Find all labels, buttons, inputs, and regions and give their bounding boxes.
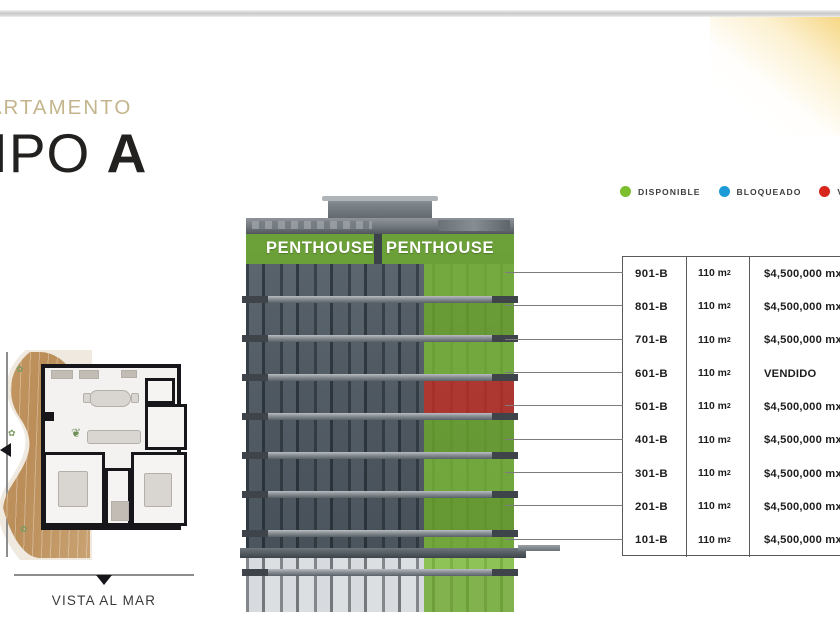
unit-price-table: 901-B 110 m2 $4,500,000 mxn 801-B 110 m2… [622,256,840,556]
plant-icon: ✿ [8,428,16,439]
cell-area-sup: 2 [727,270,731,277]
building-facade: PENTHOUSE PENTHOUSE [246,234,514,556]
cell-area-value: 110 m [698,468,727,479]
floor-slab [242,491,518,498]
apartment-outline: ❦ [41,364,181,530]
cell-unit: 801-B [623,301,686,313]
building-floor-801[interactable] [246,303,514,339]
penthouse-label-right: PENTHOUSE [386,239,494,258]
cell-area: 110 m2 [686,457,750,490]
availability-overlay-101 [424,576,514,612]
cell-area: 110 m2 [686,524,750,557]
leader-line-301 [505,472,623,473]
cell-unit: 501-B [623,401,686,413]
building-base-stub [518,545,560,551]
penthouse-divider [374,234,382,264]
legend-item-vendido[interactable]: VENDIDO [819,186,840,197]
dining-chair [83,393,91,403]
cell-unit: 601-B [623,368,686,380]
plant-icon: ❦ [71,426,81,440]
cell-area: 110 m2 [686,257,750,290]
legend-label-bloqueado: BLOQUEADO [737,187,802,197]
cell-area-sup: 2 [727,303,731,310]
plant-icon: ✿ [20,524,28,535]
cell-price: VENDIDO [750,368,816,380]
leader-line-501 [505,405,623,406]
cell-area-value: 110 m [698,435,727,446]
cell-area-sup: 2 [727,337,731,344]
availability-overlay-601 [424,381,514,417]
building-floor-101[interactable] [246,576,514,612]
cell-area-value: 110 m [698,268,727,279]
table-row[interactable]: 601-B 110 m2 VENDIDO [623,357,840,390]
cell-price: $4,500,000 mxn [750,268,840,280]
closet [111,501,129,521]
cell-area-value: 110 m [698,368,727,379]
cell-area-sup: 2 [727,403,731,410]
cell-price: $4,500,000 mxn [750,434,840,446]
floor-slab [242,452,518,459]
dining-table [89,390,131,407]
building-floor-901[interactable] [246,264,514,300]
cell-area-value: 110 m [698,401,727,412]
legend-label-disponible: DISPONIBLE [638,187,701,197]
leader-line-401 [505,439,623,440]
cell-price: $4,500,000 mxn [750,468,840,480]
floor-slab [242,569,518,576]
title-main-bold: A [107,122,147,184]
bedroom-2 [131,452,187,526]
page-title: APARTAMENTO TIPO A [0,98,218,181]
cell-area-sup: 2 [727,370,731,377]
bathroom-2 [145,404,187,450]
floor-plan: ✿ ✿ ✿ ❦ [0,348,198,562]
cell-area: 110 m2 [686,290,750,323]
leader-line-101 [505,539,623,540]
structural-column [45,412,54,421]
table-row[interactable]: 501-B 110 m2 $4,500,000 mxn [623,390,840,423]
corner-gold-glow [710,17,840,137]
floor-plan-canvas: ✿ ✿ ✿ ❦ [0,348,198,562]
cell-area-value: 110 m [698,335,727,346]
floor-slab [242,374,518,381]
availability-overlay-801 [424,303,514,339]
cell-price: $4,500,000 mxn [750,334,840,346]
floor-slab [242,530,518,537]
cell-unit: 101-B [623,534,686,546]
leader-line-901 [505,272,623,273]
table-row[interactable]: 801-B 110 m2 $4,500,000 mxn [623,290,840,323]
vendido-dot-icon [819,186,830,197]
hallway [105,468,131,526]
cell-price: $4,500,000 mxn [750,401,840,413]
table-row[interactable]: 401-B 110 m2 $4,500,000 mxn [623,424,840,457]
leader-line-701 [505,339,623,340]
disponible-dot-icon [620,186,631,197]
leader-line-201 [505,505,623,506]
cell-area-sup: 2 [727,437,731,444]
cell-price: $4,500,000 mxn [750,501,840,513]
building-floor-601[interactable] [246,381,514,417]
bed [144,473,172,507]
cell-area-value: 110 m [698,301,727,312]
bathroom-1 [145,378,175,404]
cell-price: $4,500,000 mxn [750,301,840,313]
cell-unit: 201-B [623,501,686,513]
top-decorative-bar [0,10,840,17]
cell-unit: 401-B [623,434,686,446]
cell-price: $4,500,000 mxn [750,534,840,546]
table-row[interactable]: 701-B 110 m2 $4,500,000 mxn [623,324,840,357]
title-main: TIPO A [0,126,218,181]
cell-unit: 301-B [623,468,686,480]
floor-slab [242,413,518,420]
leader-line-801 [505,305,623,306]
floor-slab [242,296,518,303]
cell-area-sup: 2 [727,503,731,510]
vista-al-mar-label: VISTA AL MAR [0,593,208,608]
penthouse-label-left: PENTHOUSE [266,239,374,258]
cell-area-value: 110 m [698,501,727,512]
table-row[interactable]: 301-B 110 m2 $4,500,000 mxn [623,457,840,490]
building-floor-501[interactable] [246,420,514,456]
status-legend: DISPONIBLE BLOQUEADO VENDIDO [620,186,840,197]
cell-area-value: 110 m [698,535,727,546]
building-elevation: PENTHOUSE PENTHOUSE [246,196,514,562]
bedroom-1 [43,452,105,526]
cell-area: 110 m2 [686,490,750,523]
building-floor-701[interactable] [246,342,514,378]
cell-unit: 901-B [623,268,686,280]
floor-slab [242,335,518,342]
availability-overlay-301 [424,498,514,534]
cell-area: 110 m2 [686,357,750,390]
availability-overlay-701 [424,342,514,378]
leader-line-601 [505,372,623,373]
bloqueado-dot-icon [719,186,730,197]
availability-overlay-901 [424,264,514,300]
building-floor-401[interactable] [246,459,514,495]
roof-slab [246,218,514,235]
availability-overlay-401 [424,459,514,495]
table-row[interactable]: 101-B 110 m2 $4,500,000 mxn [623,524,840,557]
sofa [87,430,141,444]
penthouse-floor[interactable]: PENTHOUSE PENTHOUSE [246,234,514,264]
dining-chair [131,393,139,403]
building-floor-301[interactable] [246,498,514,534]
plant-icon: ✿ [16,364,24,375]
availability-overlay-501 [424,420,514,456]
table-row[interactable]: 201-B 110 m2 $4,500,000 mxn [623,490,840,523]
title-kicker: APARTAMENTO [0,98,218,119]
cell-area: 110 m2 [686,324,750,357]
kitchen-counter [51,370,73,379]
cell-area: 110 m2 [686,390,750,423]
cell-unit: 701-B [623,334,686,346]
bed [58,471,88,507]
building-base-slab [240,548,526,558]
table-row[interactable]: 901-B 110 m2 $4,500,000 mxn [623,257,840,290]
kitchen-counter [79,370,99,379]
kitchen-appliance [121,370,137,378]
vista-arrow-icon [96,575,112,585]
cell-area-sup: 2 [727,470,731,477]
legend-item-disponible[interactable]: DISPONIBLE [620,186,701,197]
title-main-light: TIPO [0,122,107,184]
cell-area: 110 m2 [686,424,750,457]
legend-item-bloqueado[interactable]: BLOQUEADO [719,186,802,197]
cell-area-sup: 2 [727,537,731,544]
